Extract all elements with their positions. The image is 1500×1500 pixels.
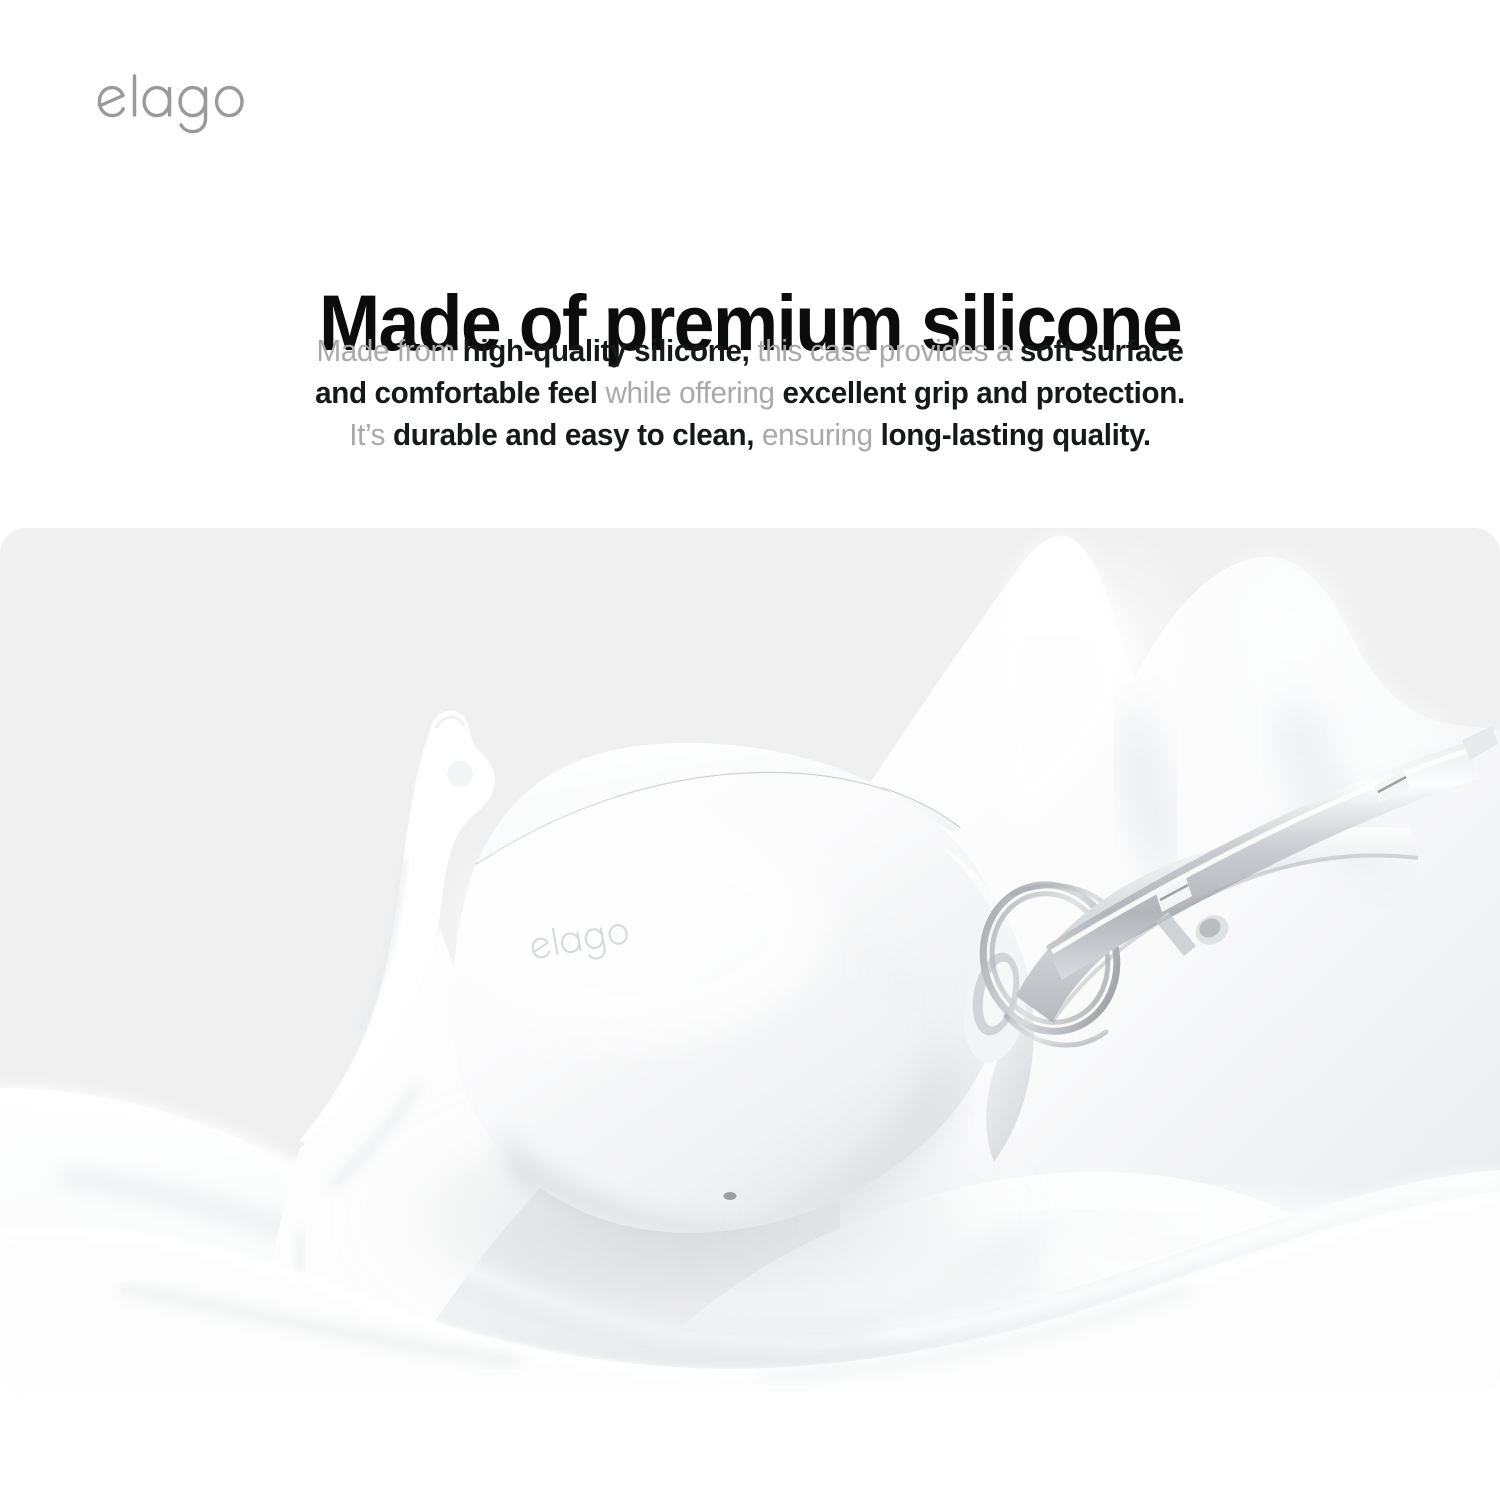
description-segment: long-lasting quality. (881, 418, 1151, 452)
description-segment: durable and easy to clean, (393, 418, 754, 452)
description-segment: It’s (349, 418, 393, 452)
description-segment: and comfortable feel (315, 376, 598, 410)
product-hero-image (0, 528, 1500, 1393)
description-paragraph: Made from high-quality silicone, this ca… (23, 330, 1478, 456)
elago-wordmark-logo (96, 74, 276, 134)
description-segment: excellent grip and protection. (782, 376, 1184, 410)
description-segment: Made from (316, 334, 462, 368)
description-segment: high-quality silicone, (463, 334, 750, 368)
description-line-1: Made from high-quality silicone, this ca… (23, 330, 1478, 372)
description-line-2: and comfortable feel while offering exce… (23, 372, 1478, 414)
description-segment: while offering (598, 376, 783, 410)
product-feature-page: Made of premium silicone Made from high-… (0, 0, 1500, 1500)
description-segment: soft surface (1020, 334, 1184, 368)
description-segment: ensuring (754, 418, 881, 452)
description-segment: this case provides a (749, 334, 1019, 368)
description-line-3: It’s durable and easy to clean, ensuring… (23, 414, 1478, 456)
